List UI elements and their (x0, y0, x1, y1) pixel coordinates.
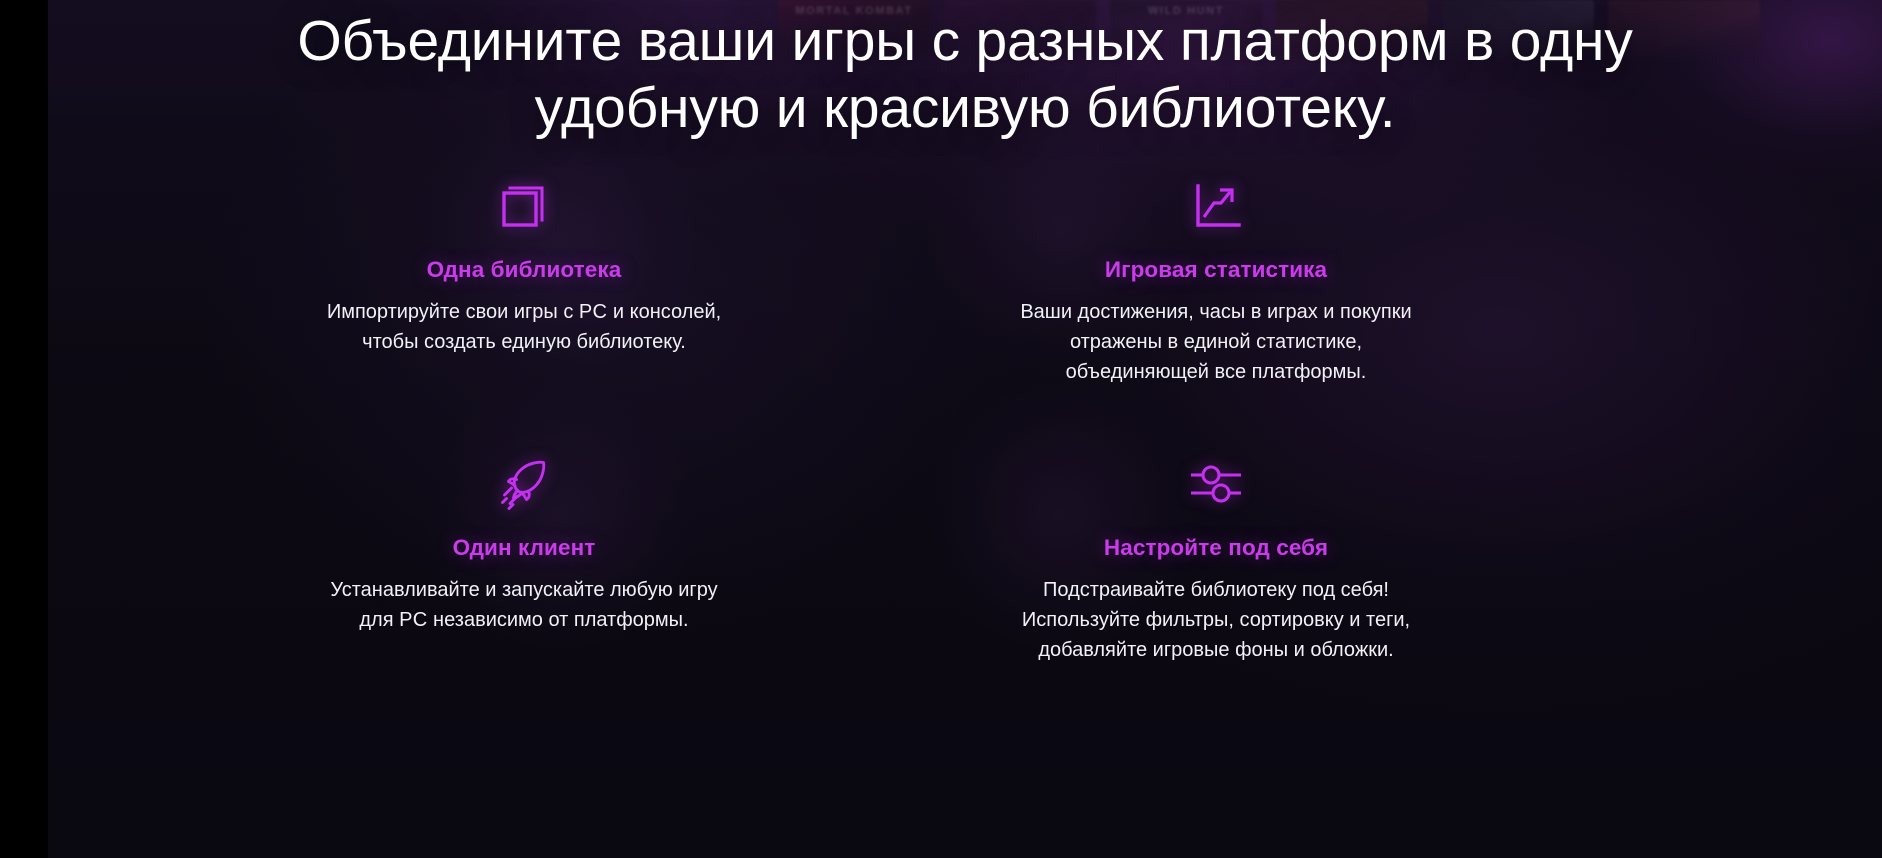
rocket-icon (497, 453, 551, 515)
feature-body: Импортируйте свои игры с PC и консолей, … (324, 297, 724, 357)
feature-body-pre: Ваши достижения, часы в играх и покупки … (1020, 301, 1411, 383)
sliders-icon (1187, 453, 1245, 515)
feature-title: Один клиент (453, 535, 596, 561)
feature-card-game-stats: Игровая статистика Ваши достижения, часы… (870, 175, 1562, 453)
layers-icon (497, 175, 551, 237)
feature-card-one-client: Один клиент Устанавливайте и запускайте … (178, 453, 870, 731)
feature-body-pre: Подстраивайте библиотеку под себя! Испол… (1022, 579, 1410, 661)
features-grid: Одна библиотека Импортируйте свои игры с… (48, 175, 1882, 731)
content-container: Объедините ваши игры с разных платформ в… (48, 0, 1882, 858)
hero-title: Объедините ваши игры с разных платформ в… (200, 0, 1730, 141)
feature-card-customize: Настройте под себя Подстраивайте библиот… (870, 453, 1562, 731)
feature-title: Игровая статистика (1105, 257, 1327, 283)
feature-body: Ваши достижения, часы в играх и покупки … (1016, 297, 1416, 387)
left-black-gutter (0, 0, 48, 858)
feature-body: Устанавливайте и запускайте любую игру д… (324, 575, 724, 635)
feature-body-platform: PC (399, 609, 427, 631)
feature-title: Настройте под себя (1104, 535, 1328, 561)
feature-body-platform: PC (579, 301, 607, 323)
feature-title: Одна библиотека (427, 257, 622, 283)
feature-body-post: независимо от платформы. (428, 609, 689, 631)
feature-body-pre: Импортируйте свои игры с (327, 301, 579, 323)
chart-trending-up-icon (1189, 175, 1243, 237)
landing-page-features-section: MORTAL KOMBAT WILD HUNT Объедините ваши … (0, 0, 1882, 858)
feature-body: Подстраивайте библиотеку под себя! Испол… (1016, 575, 1416, 665)
feature-card-one-library: Одна библиотека Импортируйте свои игры с… (178, 175, 870, 453)
